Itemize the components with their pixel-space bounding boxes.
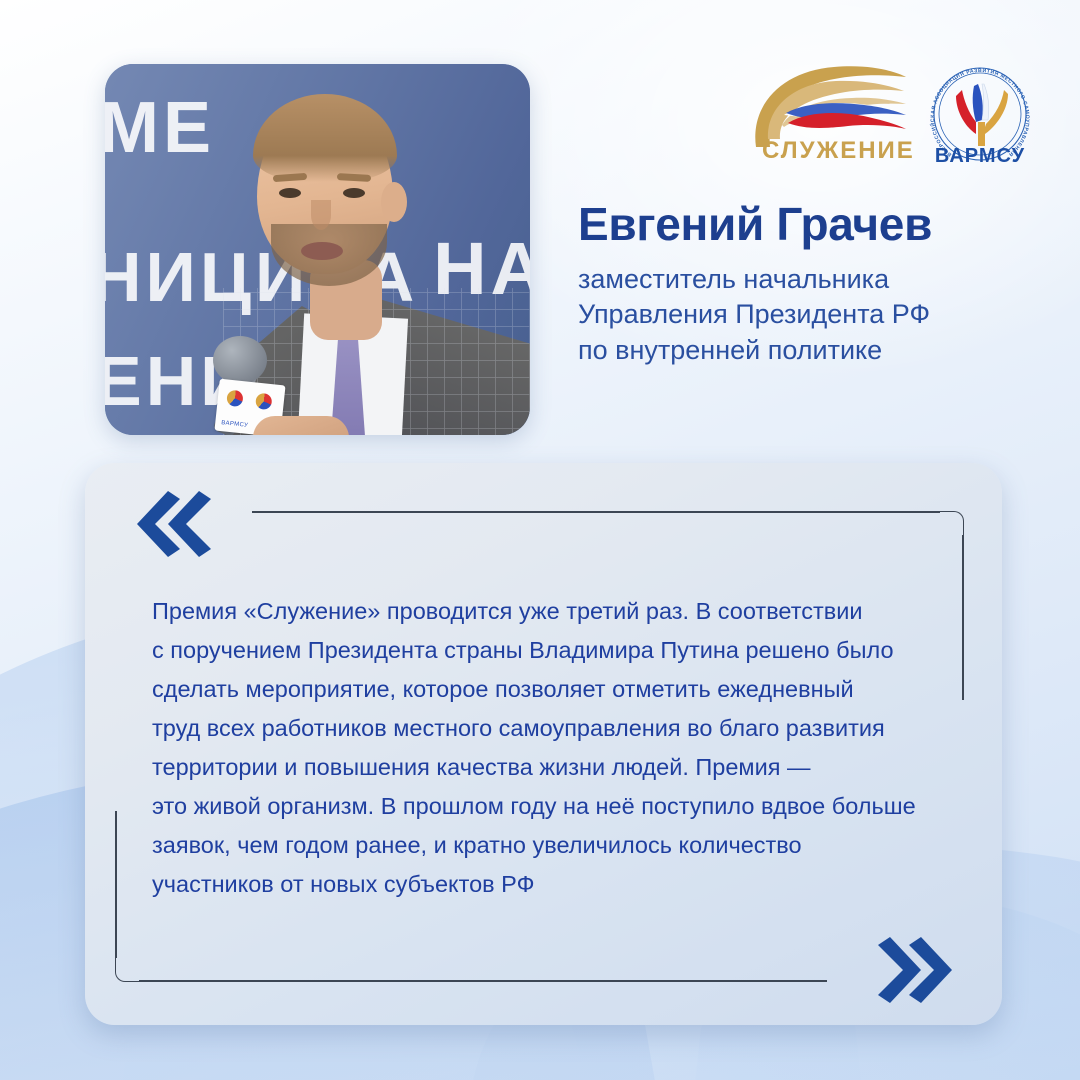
poster-canvas: МЕ НИЦИПА ЕНИЦ НА ВАР — [0, 0, 1080, 1080]
speaker-name: Евгений Грачев — [578, 200, 1048, 250]
speaker-photo: МЕ НИЦИПА ЕНИЦ НА ВАР — [105, 64, 530, 435]
mic-flag-label: ВАРМСУ — [221, 420, 249, 429]
quote-paragraph: Премия «Служение» проводится уже третий … — [152, 592, 942, 904]
frame-corner-top-right — [939, 511, 964, 536]
quote-line-8: участников от новых субъектов РФ — [152, 865, 942, 904]
eye-right — [343, 188, 365, 198]
frame-corner-bottom-left — [115, 957, 140, 982]
frame-line-right — [962, 535, 964, 700]
quote-line-2: с поручением Президента страны Владимира… — [152, 631, 942, 670]
quote-line-1: Премия «Служение» проводится уже третий … — [152, 592, 942, 631]
microphone-head — [213, 336, 267, 384]
sluzhenie-logo-label: СЛУЖЕНИЕ — [762, 137, 915, 165]
quote-line-3: сделать мероприятие, которое позволяет о… — [152, 670, 942, 709]
quote-open-chevrons-icon — [133, 489, 211, 559]
speaker-role-line-1: заместитель начальника — [578, 262, 1048, 298]
frame-line-top — [252, 511, 940, 513]
sluzhenie-logo: СЛУЖЕНИЕ — [748, 61, 908, 171]
speaker-info: Евгений Грачев заместитель начальника Уп… — [578, 200, 1048, 369]
mouth — [301, 242, 343, 260]
mic-flag-mark-1 — [226, 390, 244, 408]
quote-close-chevrons-icon — [878, 935, 956, 1005]
eye-left — [279, 188, 301, 198]
varmsu-logo: ВСЕРОССИЙСКАЯ АССОЦИАЦИЯ РАЗВИТИЯ МЕСТНО… — [918, 56, 1042, 176]
quote-text: Премия «Служение» проводится уже третий … — [152, 592, 942, 904]
quote-line-4: труд всех работников местного самоуправл… — [152, 709, 942, 748]
backdrop-letter-1: МЕ — [105, 92, 215, 164]
varmsu-logo-label: ВАРМСУ — [918, 145, 1042, 168]
quote-card: Премия «Служение» проводится уже третий … — [85, 463, 1002, 1025]
frame-line-bottom — [139, 980, 827, 982]
speaker-role: заместитель начальника Управления Презид… — [578, 262, 1048, 369]
frame-line-left — [115, 811, 117, 958]
mic-flag-mark-2 — [255, 393, 273, 411]
quote-line-5: территории и повышения качества жизни лю… — [152, 748, 942, 787]
hand — [253, 416, 349, 435]
nose — [311, 200, 331, 230]
logo-group: СЛУЖЕНИЕ ВСЕРОССИЙСКАЯ АССОЦИАЦИЯ РАЗВИТ… — [748, 56, 1042, 176]
speaker-role-line-3: по внутренней политике — [578, 333, 1048, 369]
speaker-role-line-2: Управления Президента РФ — [578, 297, 1048, 333]
ear — [381, 182, 407, 222]
quote-line-6: это живой организм. В прошлом году на не… — [152, 787, 942, 826]
quote-line-7: заявок, чем годом ранее, и кратно увелич… — [152, 826, 942, 865]
